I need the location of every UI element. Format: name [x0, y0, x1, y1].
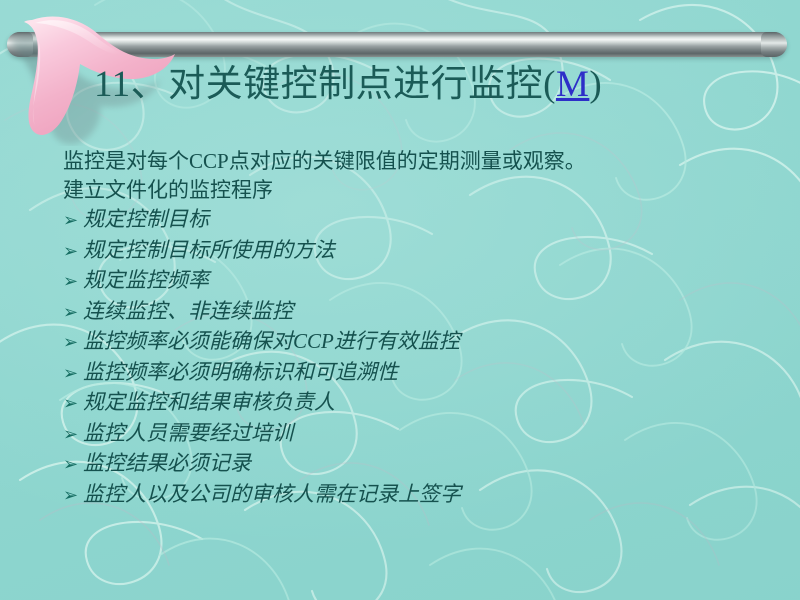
slide-title: 11、对关键控制点进行监控(M)	[94, 63, 602, 107]
bullet-arrow-icon: ➢	[63, 450, 83, 480]
bullet-item: ➢ 监控频率必须能确保对CCP进行有效监控	[63, 327, 763, 358]
title-suffix: )	[589, 64, 602, 105]
body-paragraph: 建立文件化的监控程序	[63, 176, 763, 205]
bullet-arrow-icon: ➢	[63, 206, 83, 236]
bullet-label: 监控人以及公司的审核人需在记录上签字	[83, 480, 461, 510]
bullet-label: 监控结果必须记录	[83, 449, 251, 479]
bullet-arrow-icon: ➢	[63, 389, 83, 419]
bullet-item: ➢ 监控人员需要经过培训	[63, 419, 763, 450]
bullet-label: 连续监控、非连续监控	[83, 297, 293, 327]
bullet-arrow-icon: ➢	[63, 328, 83, 358]
bullet-item: ➢ 规定监控和结果审核负责人	[63, 388, 763, 419]
bullet-label: 规定控制目标	[83, 205, 209, 235]
bullet-label: 监控频率必须能确保对CCP进行有效监控	[83, 327, 460, 357]
slide-body: 监控是对每个CCP点对应的关键限值的定期测量或观察。 建立文件化的监控程序 ➢ …	[63, 147, 763, 510]
body-paragraph: 监控是对每个CCP点对应的关键限值的定期测量或观察。	[63, 147, 763, 176]
bullet-label: 规定监控频率	[83, 266, 209, 296]
bullet-label: 规定监控和结果审核负责人	[83, 388, 335, 418]
bullet-arrow-icon: ➢	[63, 298, 83, 328]
bullet-item: ➢ 连续监控、非连续监控	[63, 297, 763, 328]
title-highlight-m: M	[556, 64, 589, 105]
bullet-item: ➢ 监控频率必须明确标识和可追溯性	[63, 358, 763, 389]
bullet-item: ➢ 规定控制目标	[63, 205, 763, 236]
presentation-slide: 11、对关键控制点进行监控(M) 监控是对每个CCP点对应的关键限值的定期测量或…	[0, 0, 800, 600]
bullet-arrow-icon: ➢	[63, 237, 83, 267]
bullet-item: ➢ 监控结果必须记录	[63, 449, 763, 480]
bullet-item: ➢ 监控人以及公司的审核人需在记录上签字	[63, 480, 763, 511]
bullet-label: 监控人员需要经过培训	[83, 419, 293, 449]
bullet-label: 规定控制目标所使用的方法	[83, 236, 335, 266]
bullet-item: ➢ 规定监控频率	[63, 266, 763, 297]
bullet-arrow-icon: ➢	[63, 481, 83, 511]
bullet-arrow-icon: ➢	[63, 359, 83, 389]
bullet-arrow-icon: ➢	[63, 267, 83, 297]
metal-bar-right-cap	[761, 32, 787, 57]
bullet-item: ➢ 规定控制目标所使用的方法	[63, 236, 763, 267]
bullet-label: 监控频率必须明确标识和可追溯性	[83, 358, 398, 388]
title-prefix: 11、对关键控制点进行监控(	[94, 64, 556, 105]
bullet-arrow-icon: ➢	[63, 420, 83, 450]
